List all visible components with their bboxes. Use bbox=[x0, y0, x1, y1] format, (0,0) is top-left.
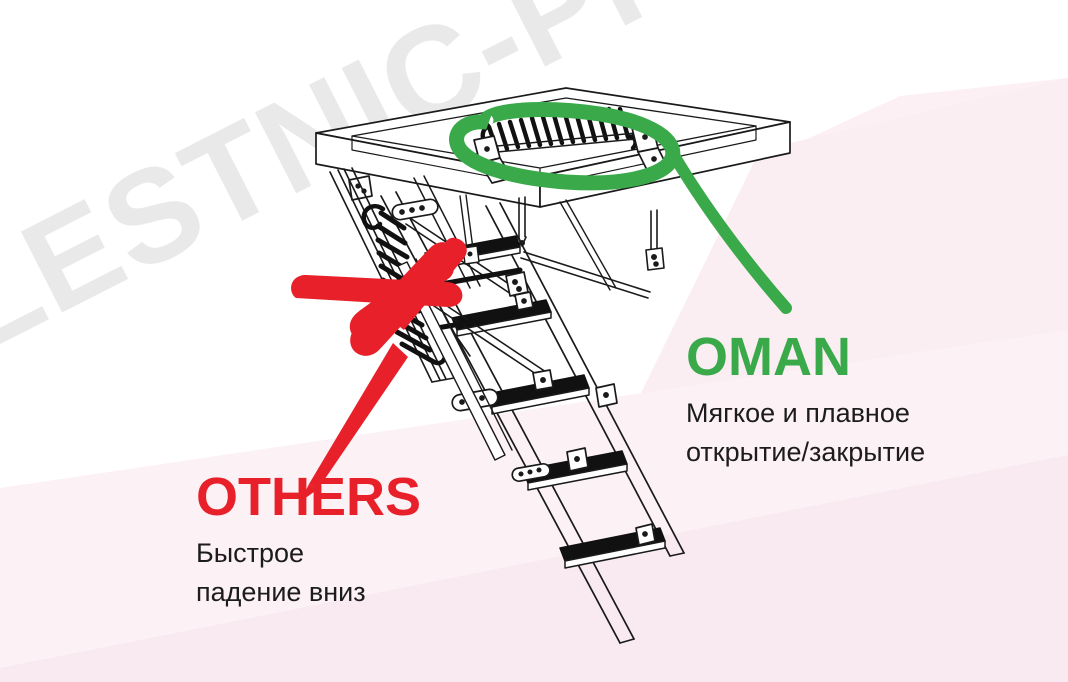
others-subtitle-line2: падение вниз bbox=[196, 573, 421, 612]
oman-title: OMAN bbox=[686, 330, 925, 384]
callout-oman: OMAN Мягкое и плавное открытие/закрытие bbox=[686, 330, 925, 472]
oman-subtitle-line1: Мягкое и плавное bbox=[686, 394, 925, 433]
callout-others: OTHERS Быстрое падение вниз bbox=[196, 470, 421, 612]
others-title: OTHERS bbox=[196, 470, 421, 524]
oman-subtitle-line2: открытие/закрытие bbox=[686, 433, 925, 472]
illustration-canvas: LESTNIC-PROSTO.RU bbox=[0, 0, 1068, 682]
others-subtitle-line1: Быстрое bbox=[196, 534, 421, 573]
red-arrow-icon bbox=[291, 238, 467, 502]
